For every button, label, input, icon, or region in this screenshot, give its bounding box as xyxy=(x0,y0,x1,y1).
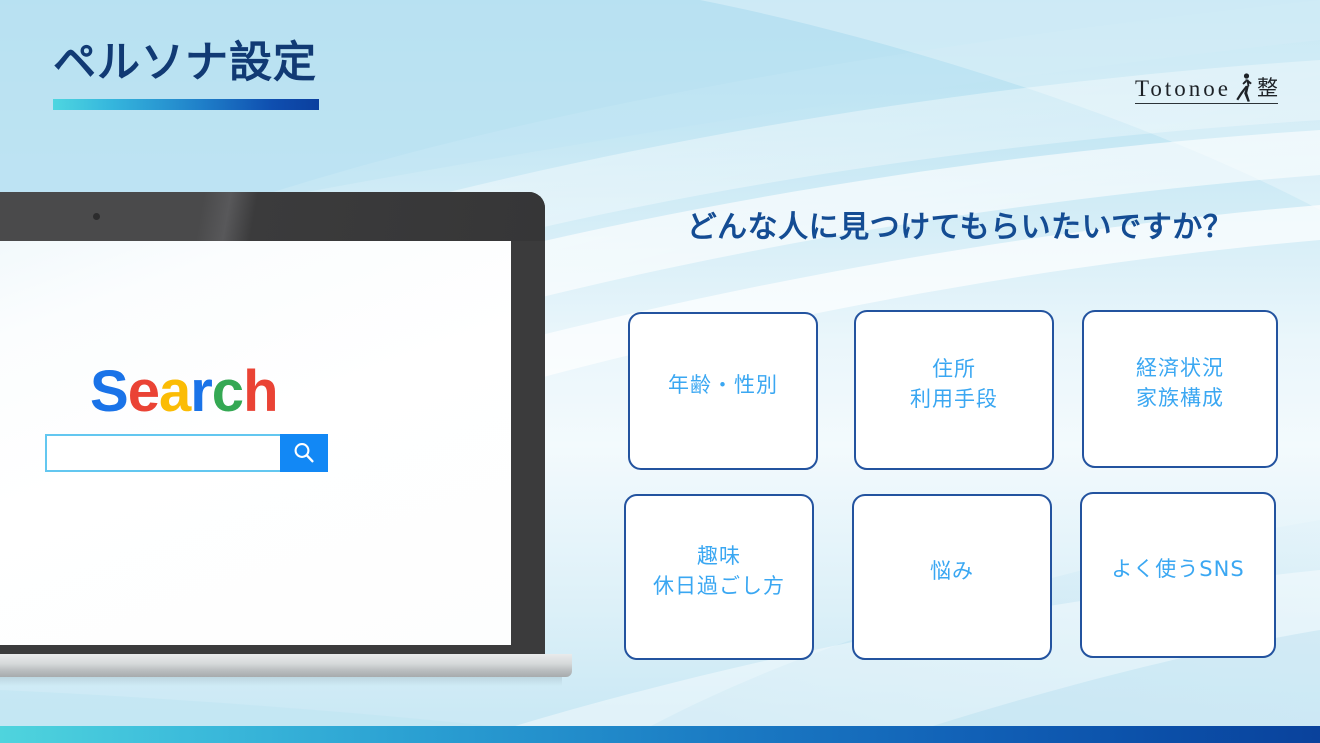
persona-card-sns[interactable]: よく使うSNS xyxy=(1080,492,1276,658)
page-title: ペルソナ設定 xyxy=(53,40,319,87)
brand-logo-wordmark: Totonoe xyxy=(1135,77,1231,100)
persona-card-label: 経済状況 家族構成 xyxy=(1136,353,1224,414)
walking-person-icon xyxy=(1233,72,1255,102)
title-underline-bar xyxy=(53,99,319,110)
persona-card-label: 悩み xyxy=(930,556,974,586)
webcam-icon xyxy=(93,213,100,220)
persona-card-economy-family[interactable]: 経済状況 家族構成 xyxy=(1082,310,1278,468)
search-logo-letter: h xyxy=(243,359,277,424)
search-submit-button[interactable] xyxy=(280,434,328,472)
persona-card-label: 年齢・性別 xyxy=(668,370,778,400)
slide-canvas: ペルソナ設定 Totonoe 整 Search xyxy=(0,0,1320,743)
brand-logo-inner: Totonoe 整 xyxy=(1135,72,1278,104)
search-logo-letter: a xyxy=(159,359,190,424)
search-logo-letter: r xyxy=(190,359,212,424)
brand-logo-kanji: 整 xyxy=(1257,78,1278,99)
question-heading: どんな人に見つけてもらいたいですか？ xyxy=(620,210,1300,246)
search-input[interactable] xyxy=(45,434,280,472)
search-logo: Search xyxy=(90,363,278,421)
persona-card-hobby-holiday[interactable]: 趣味 休日過ごし方 xyxy=(624,494,814,660)
persona-card-address-transport[interactable]: 住所 利用手段 xyxy=(854,310,1054,470)
search-logo-letter: e xyxy=(128,359,159,424)
search-logo-letter: c xyxy=(212,359,243,424)
search-logo-letter: S xyxy=(90,359,128,424)
search-bar xyxy=(45,434,328,472)
title-block: ペルソナ設定 xyxy=(53,40,319,110)
persona-card-grid: 年齢・性別 住所 利用手段 経済状況 家族構成 趣味 休日過ごし方 悩み よく使… xyxy=(624,308,1288,660)
brand-logo: Totonoe 整 xyxy=(1135,72,1278,104)
right-panel: どんな人に見つけてもらいたいですか？ xyxy=(620,210,1300,246)
laptop-shadow xyxy=(0,677,562,686)
bottom-accent-bar xyxy=(0,726,1320,743)
laptop-bezel xyxy=(0,192,545,241)
persona-card-worries[interactable]: 悩み xyxy=(852,494,1052,660)
laptop-base xyxy=(0,654,572,677)
persona-card-label: 住所 利用手段 xyxy=(910,354,998,415)
persona-card-label: 趣味 休日過ごし方 xyxy=(653,541,785,602)
persona-card-label: よく使うSNS xyxy=(1111,554,1244,584)
persona-card-age-gender[interactable]: 年齢・性別 xyxy=(628,312,818,470)
magnifier-icon xyxy=(291,440,317,466)
